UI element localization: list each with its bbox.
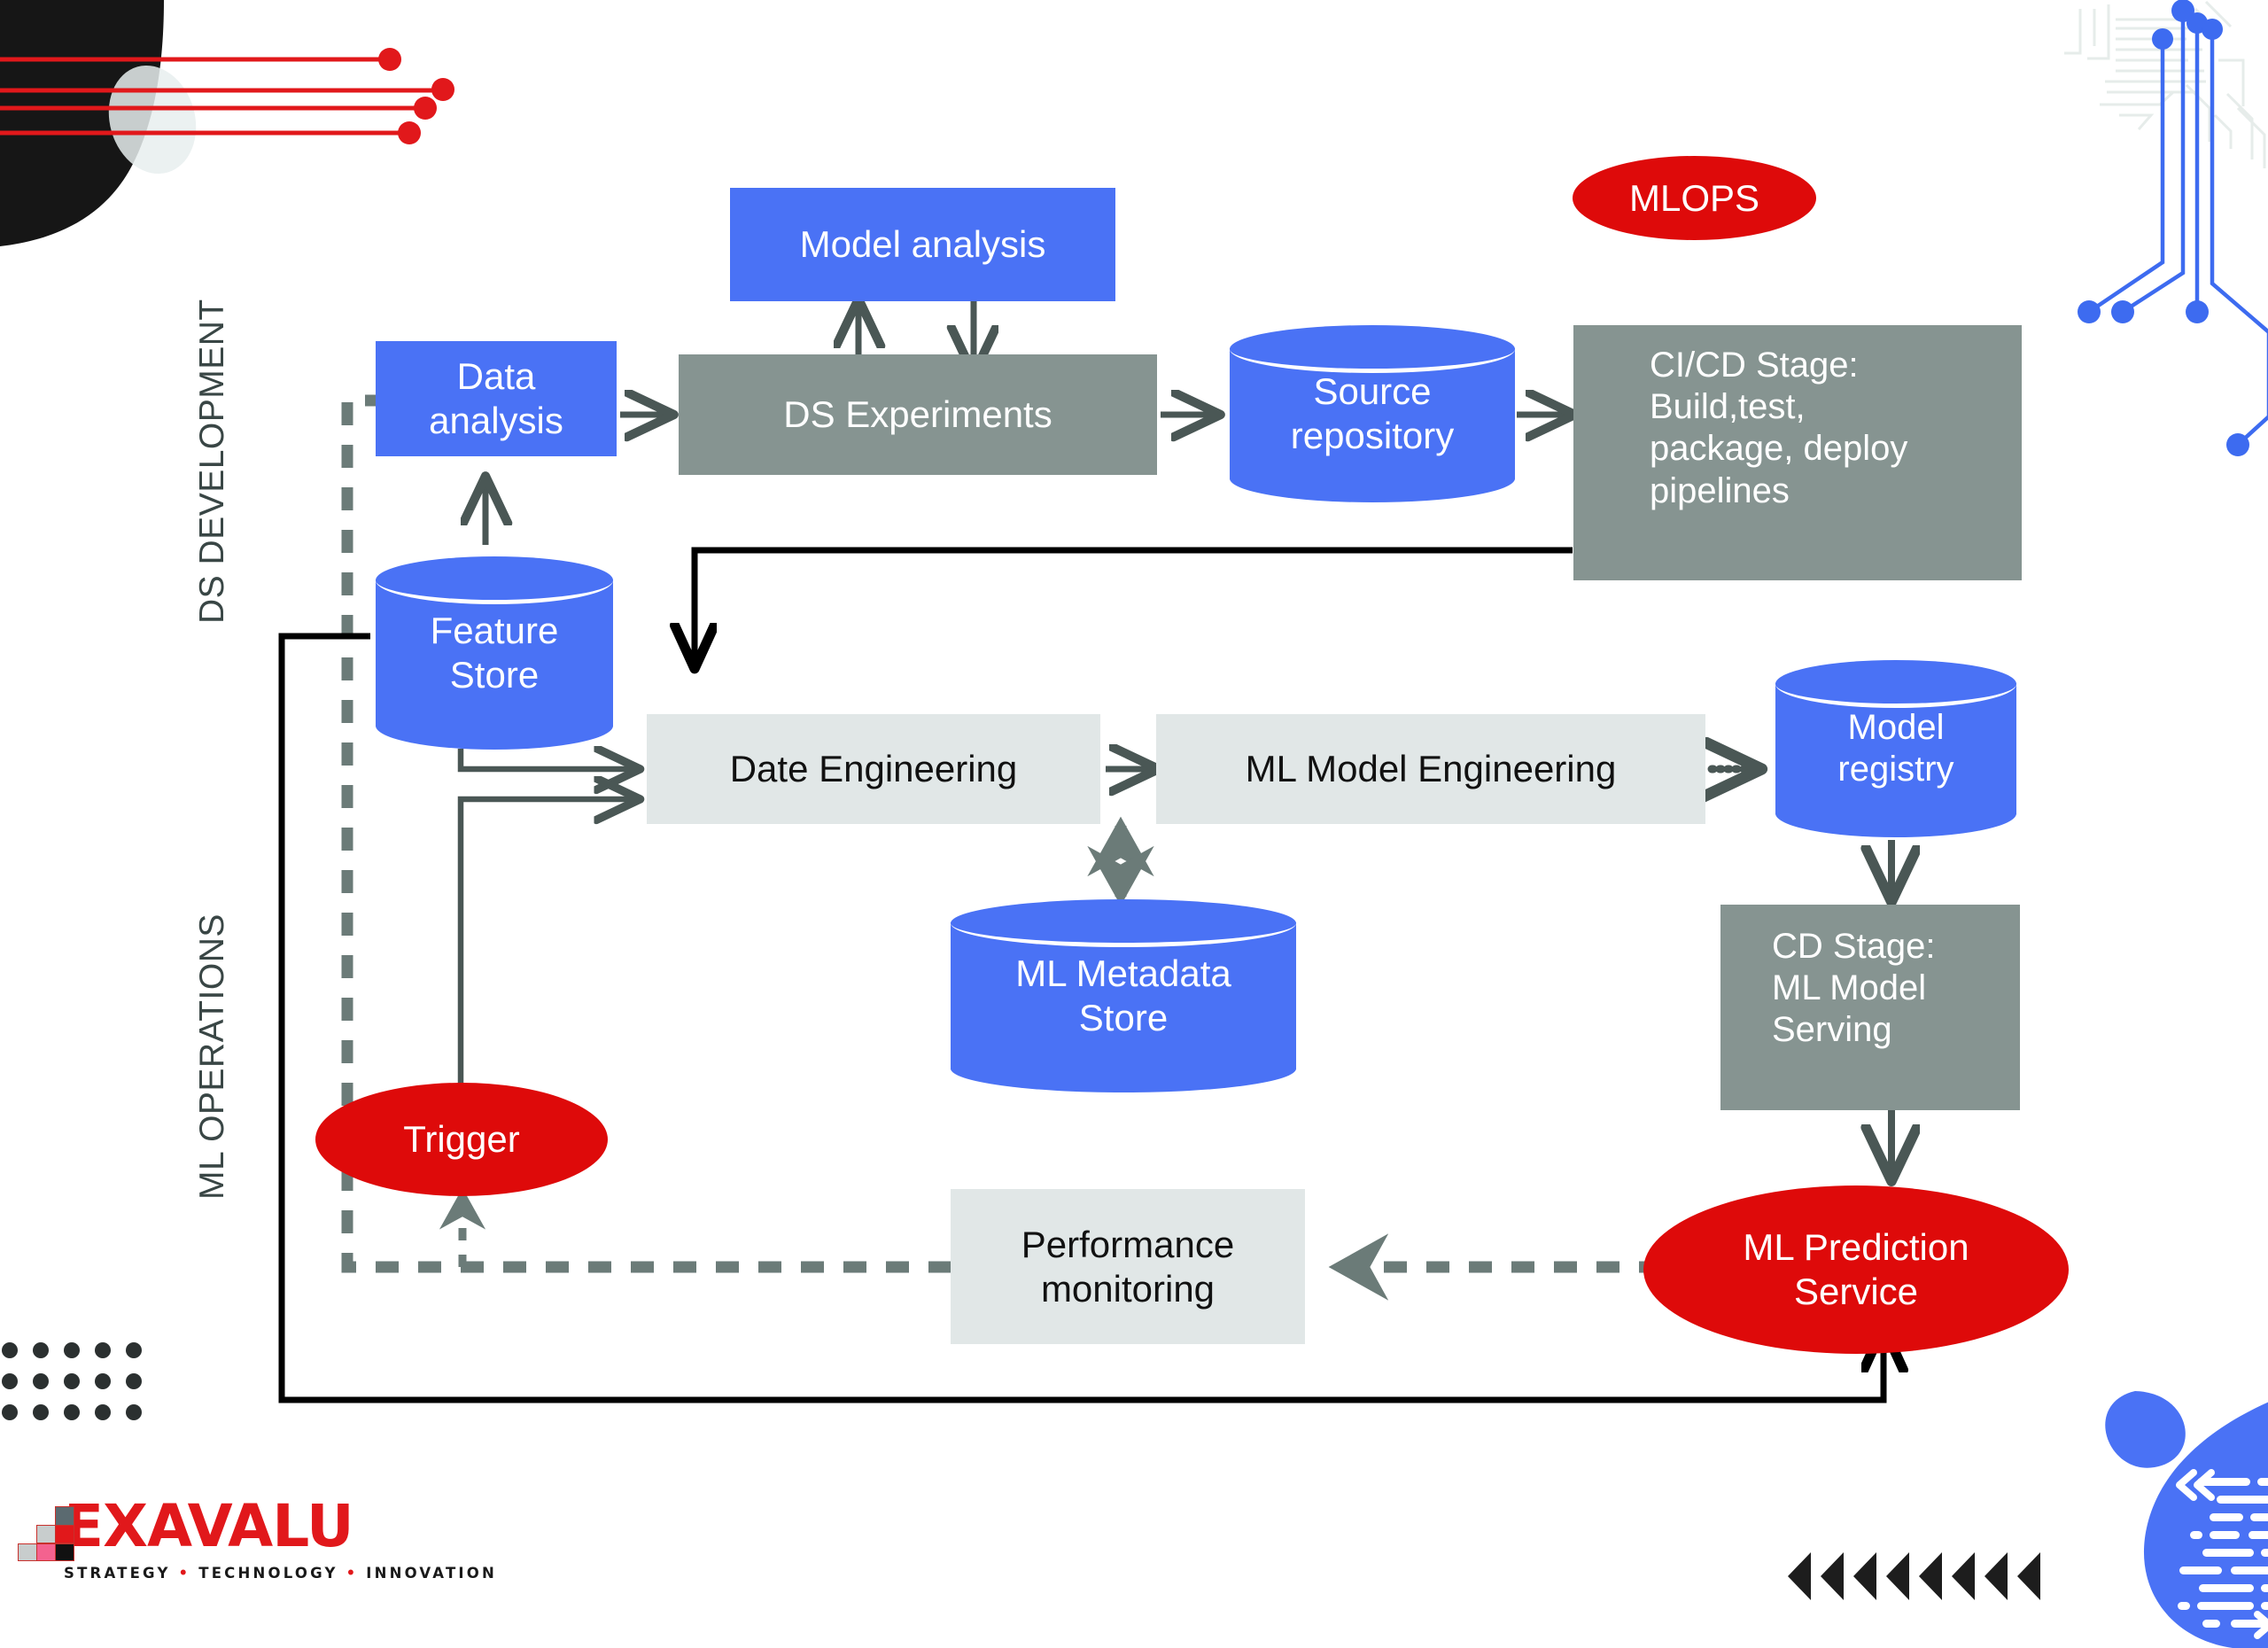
tagline-part-technology: TECHNOLOGY — [198, 1565, 338, 1582]
tagline-part-strategy: STRATEGY — [64, 1565, 171, 1582]
top-right-circuit-decoration — [2054, 0, 2268, 611]
node-model-registry-label: Model registry — [1837, 707, 1953, 790]
section-label-ml-operations: ML OPERATIONS — [193, 913, 232, 1200]
node-ml-model-engineering-label: ML Model Engineering — [1156, 747, 1705, 791]
node-model-registry[interactable]: Model registry — [1775, 660, 2016, 837]
logo-wordmark: EXAVALU — [64, 1497, 497, 1556]
mlops-badge: MLOPS — [1573, 156, 1816, 240]
edge-feature-store-to-date-engineering — [461, 749, 638, 769]
node-ml-prediction-service-label: ML Prediction Service — [1643, 1225, 2069, 1313]
node-model-analysis-label: Model analysis — [730, 222, 1115, 267]
node-performance-monitoring-label: Performance monitoring — [951, 1223, 1305, 1310]
node-ml-metadata-store[interactable]: ML Metadata Store — [951, 899, 1296, 1092]
exavalu-logo: EXAVALU STRATEGY • TECHNOLOGY • INNOVATI… — [64, 1497, 497, 1582]
node-feature-store-label: Feature Store — [431, 609, 559, 696]
node-cicd-stage[interactable]: CI/CD Stage: Build,test, package, deploy… — [1573, 325, 2022, 580]
node-ml-model-engineering[interactable]: ML Model Engineering — [1156, 714, 1705, 824]
node-ml-prediction-service[interactable]: ML Prediction Service — [1643, 1185, 2069, 1354]
bottom-left-dot-grid-decoration — [2, 1342, 142, 1420]
node-data-analysis[interactable]: Data analysis — [376, 341, 617, 456]
logo-tagline: STRATEGY • TECHNOLOGY • INNOVATION — [64, 1565, 497, 1582]
node-trigger-label: Trigger — [315, 1117, 608, 1162]
node-data-analysis-label: Data analysis — [376, 354, 617, 442]
node-performance-monitoring[interactable]: Performance monitoring — [951, 1189, 1305, 1344]
node-date-engineering-label: Date Engineering — [647, 747, 1100, 791]
node-ml-metadata-store-label: ML Metadata Store — [1015, 952, 1231, 1039]
bottom-right-blob-decoration — [2029, 1391, 2268, 1648]
node-trigger[interactable]: Trigger — [315, 1083, 608, 1196]
section-label-ds-development: DS DEVELOPMENT — [193, 299, 232, 624]
chevron-row-decoration — [1788, 1552, 2040, 1600]
node-source-repository-label: Source repository — [1291, 369, 1454, 457]
node-source-repository[interactable]: Source repository — [1230, 325, 1515, 502]
node-ds-experiments-label: DS Experiments — [679, 393, 1157, 437]
tagline-part-innovation: INNOVATION — [366, 1565, 497, 1582]
node-ds-experiments[interactable]: DS Experiments — [679, 354, 1157, 475]
edge-cicd-to-date-engineering — [695, 550, 1573, 666]
node-cd-stage[interactable]: CD Stage: ML Model Serving — [1720, 905, 2020, 1110]
node-cd-stage-label: CD Stage: ML Model Serving — [1772, 926, 2020, 1052]
node-cicd-stage-label: CI/CD Stage: Build,test, package, deploy… — [1650, 345, 2022, 512]
top-left-decoration — [0, 0, 461, 266]
edge-trigger-to-date-engineering — [461, 799, 638, 1125]
tagline-sep-2: • — [346, 1565, 359, 1582]
diagram-canvas: DS DEVELOPMENT ML OPERATIONS MLOPS Model… — [0, 0, 2268, 1644]
logo-blocks-icon — [18, 1506, 71, 1561]
node-feature-store[interactable]: Feature Store — [376, 556, 613, 750]
node-date-engineering[interactable]: Date Engineering — [647, 714, 1100, 824]
tagline-sep-1: • — [179, 1565, 191, 1582]
node-model-analysis[interactable]: Model analysis — [730, 188, 1115, 301]
